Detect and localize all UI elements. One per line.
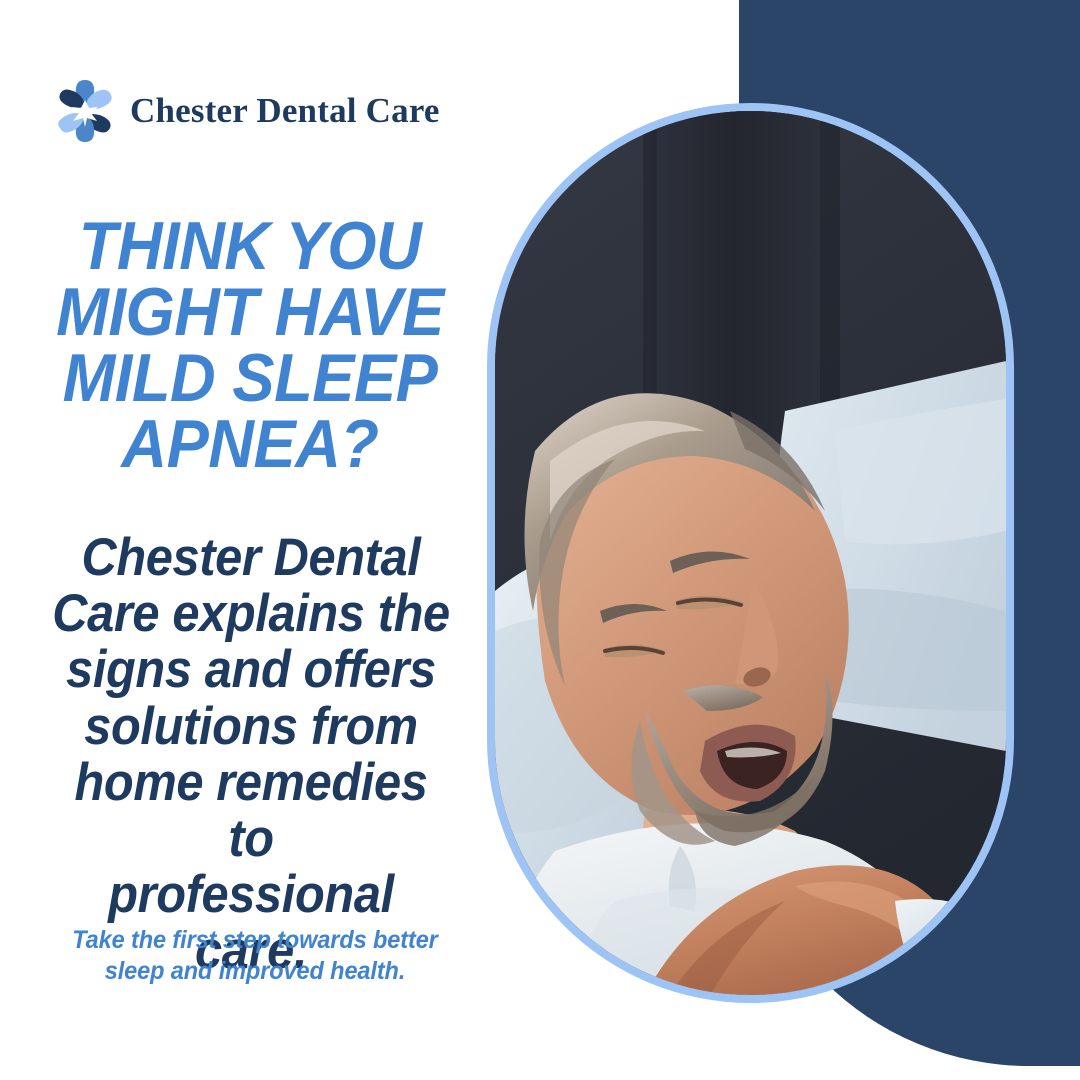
- subheadline-line-4: solutions from: [46, 699, 456, 755]
- brand-name: Chester Dental Care: [130, 91, 440, 131]
- dental-flower-logo-icon: [52, 78, 118, 144]
- subheadline-line-5: home remedies to: [46, 755, 456, 867]
- tagline-line-1: Take the first step towards better: [44, 925, 467, 956]
- brand-logo[interactable]: Chester Dental Care: [52, 78, 440, 144]
- sleeping-man-photo-illustration: [495, 111, 1006, 995]
- subheadline-line-3: signs and offers: [46, 642, 456, 698]
- subheadline: Chester Dental Care explains the signs a…: [46, 530, 456, 979]
- headline-line-1: THINK YOU: [45, 214, 454, 280]
- hero-photo: [495, 111, 1006, 995]
- subheadline-line-1: Chester Dental: [46, 530, 456, 586]
- headline-line-2: MIGHT HAVE: [45, 280, 454, 346]
- poster-canvas: Chester Dental Care THINK YOU MIGHT HAVE…: [0, 0, 1080, 1080]
- tagline: Take the first step towards better sleep…: [44, 925, 467, 986]
- headline: THINK YOU MIGHT HAVE MILD SLEEP APNEA?: [45, 214, 454, 478]
- headline-line-4: APNEA?: [45, 412, 454, 478]
- tagline-line-2: sleep and improved health.: [44, 956, 467, 987]
- headline-line-3: MILD SLEEP: [45, 346, 454, 412]
- subheadline-line-2: Care explains the: [46, 586, 456, 642]
- content-column: Chester Dental Care THINK YOU MIGHT HAVE…: [0, 0, 500, 1080]
